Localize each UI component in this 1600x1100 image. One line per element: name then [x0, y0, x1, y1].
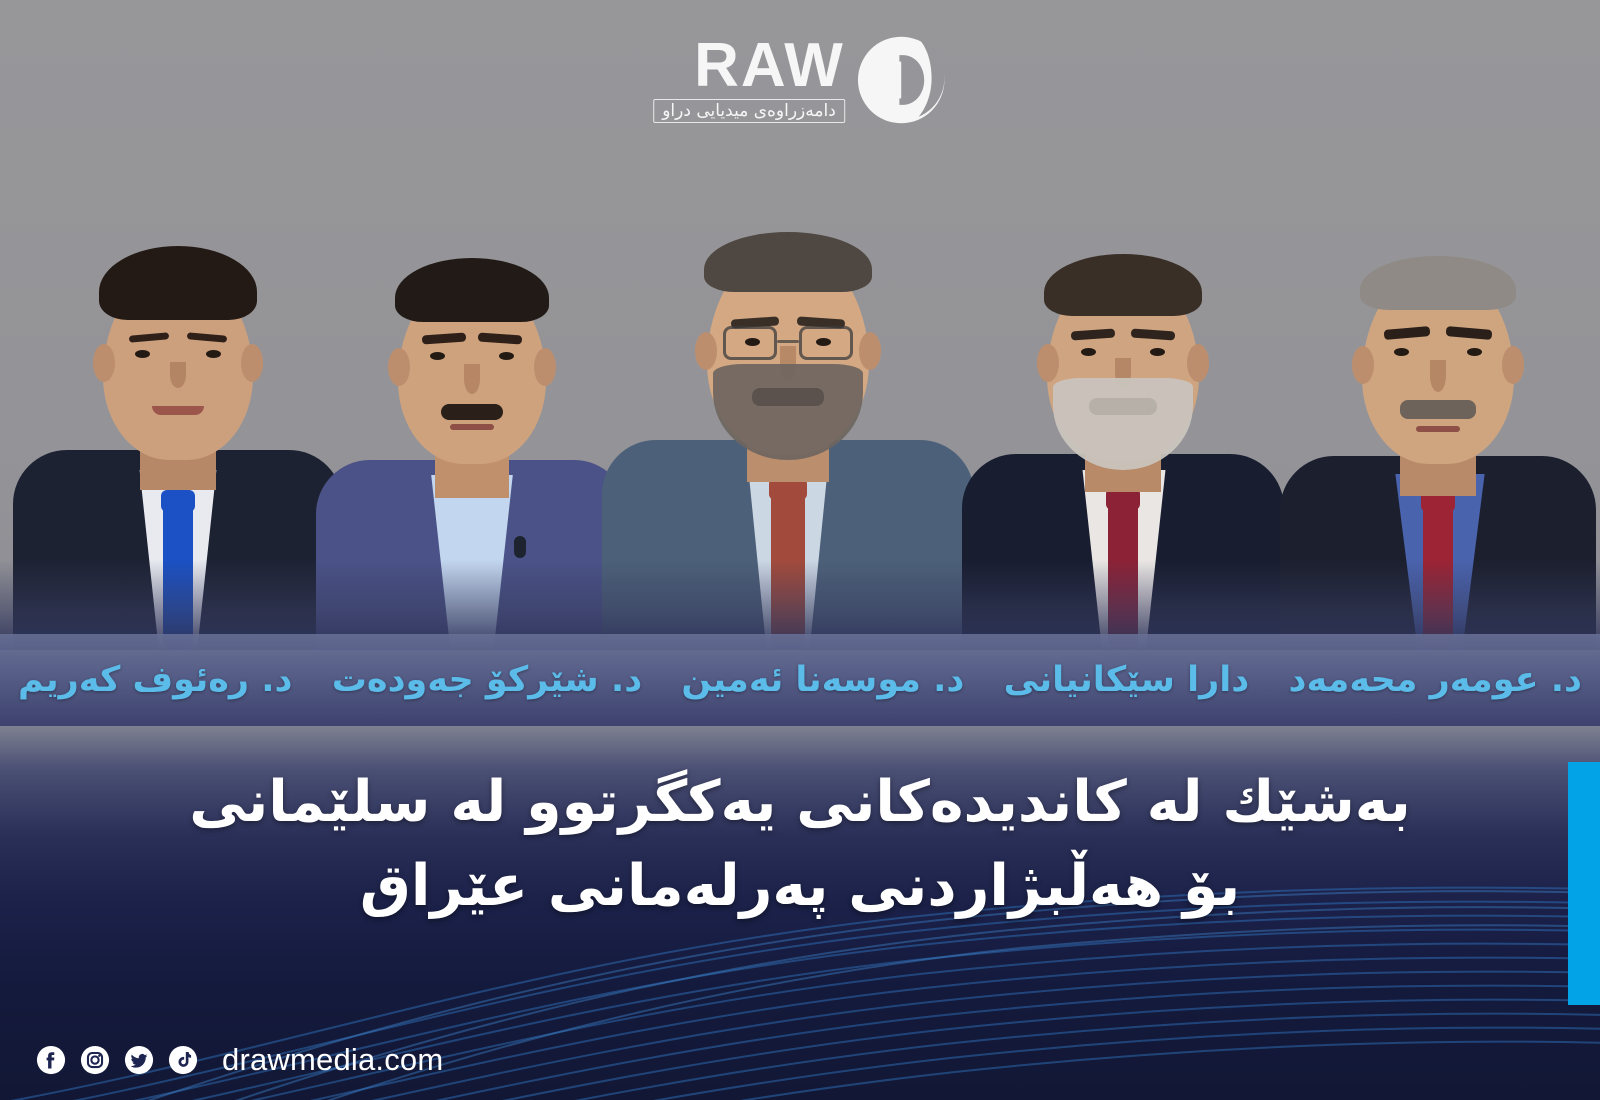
- hair: [1044, 254, 1202, 316]
- candidate-name-5: د. رەئوف کەریم: [18, 660, 293, 700]
- candidate-name-2: دارا سێکانیانی: [1004, 660, 1250, 700]
- website-url[interactable]: drawmedia.com: [212, 1042, 443, 1078]
- drawmedia-logo: RAW دامەزراوەی میدیایی دراو: [653, 34, 947, 126]
- candidate-name-1: د. عومەر محەمەد: [1288, 660, 1582, 700]
- candidate-name-3: د. موسەنا ئەمین: [681, 660, 964, 700]
- tiktok-icon[interactable]: [168, 1045, 198, 1075]
- hair: [1360, 256, 1516, 310]
- logo-text-block: RAW دامەزراوەی میدیایی دراو: [653, 37, 845, 124]
- candidate-name-4: د. شێرکۆ جەودەت: [332, 660, 642, 700]
- instagram-icon[interactable]: [80, 1045, 110, 1075]
- mustache: [1089, 398, 1157, 415]
- hair: [395, 258, 549, 322]
- accent-bar: [1568, 762, 1600, 1005]
- facebook-icon[interactable]: [36, 1045, 66, 1075]
- headline-line-2: بۆ هەڵبژاردنی پەرلەمانی عێراق: [40, 844, 1560, 928]
- hair: [704, 232, 872, 292]
- mustache: [752, 388, 824, 406]
- logo-d-mark-icon: [855, 34, 947, 126]
- portrait-row: [0, 230, 1600, 650]
- hair: [99, 246, 257, 320]
- logo-subtitle: دامەزراوەی میدیایی دراو: [653, 99, 845, 123]
- news-card: RAW دامەزراوەی میدیایی دراو: [0, 0, 1600, 1100]
- headline-line-1: بەشێك لە کاندیدەکانی یەکگرتوو لە سلێمانی: [40, 760, 1560, 844]
- mustache: [1400, 400, 1476, 419]
- logo-wordmark: RAW: [694, 37, 845, 96]
- candidate-names-band: د. عومەر محەمەد دارا سێکانیانی د. موسەنا…: [0, 634, 1600, 726]
- twitter-icon[interactable]: [124, 1045, 154, 1075]
- lapel-microphone-icon: [514, 536, 526, 558]
- headline: بەشێك لە کاندیدەکانی یەکگرتوو لە سلێمانی…: [0, 760, 1600, 929]
- mustache: [441, 404, 503, 420]
- footer: drawmedia.com: [36, 1042, 443, 1078]
